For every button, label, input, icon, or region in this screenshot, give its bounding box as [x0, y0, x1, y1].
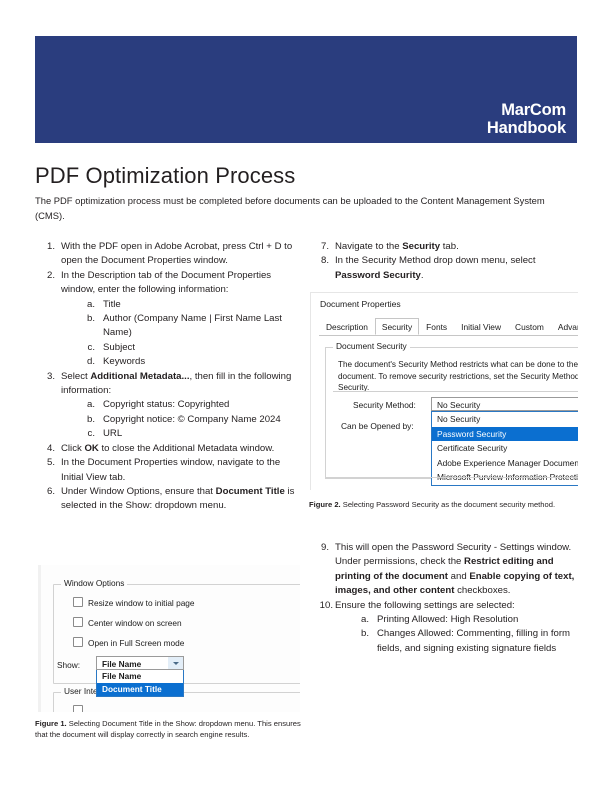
list-item: b.Author (Company Name | First Name Last…	[77, 312, 303, 341]
dropdown-option-certificate-security[interactable]: Certificate Security	[432, 441, 578, 456]
substep-text: Changes Allowed: Commenting, filling in …	[377, 628, 570, 653]
window-options-group-label: Window Options	[61, 578, 127, 588]
substep-text: URL	[103, 428, 122, 439]
tab-fonts[interactable]: Fonts	[419, 318, 454, 335]
dropdown-option-no-security[interactable]: No Security	[432, 412, 578, 427]
security-method-dropdown-list[interactable]: No Security Password Security Certificat…	[431, 411, 578, 486]
dialog-title: Document Properties	[320, 299, 401, 309]
step-body: Navigate to the Security tab.	[335, 241, 459, 252]
substep-text: Title	[103, 299, 121, 310]
list-item: d.Keywords	[77, 355, 303, 369]
step-text-post: to close the Additional Metadata window.	[99, 443, 274, 454]
substep-number: a.	[77, 298, 95, 312]
list-item: 1. With the PDF open in Adobe Acrobat, p…	[35, 240, 303, 269]
checkbox-row-hide-menu-bar[interactable]	[73, 705, 88, 712]
substep-text: Copyright status: Copyrighted	[103, 399, 229, 410]
list-item: 4. Click OK to close the Additional Meta…	[35, 442, 303, 456]
list-item: 8. In the Security Method drop down menu…	[309, 254, 577, 283]
list-item: 3. Select Additional Metadata..., then f…	[35, 370, 303, 442]
step-text-emphasis: OK	[84, 443, 98, 454]
can-be-opened-by-label: Can be Opened by:	[341, 421, 414, 431]
page-intro: The PDF optimization process must be com…	[35, 194, 560, 223]
checkbox-row-center-window[interactable]: Center window on screen	[73, 617, 182, 628]
list-item: c.URL	[77, 427, 303, 441]
checkbox-icon[interactable]	[73, 637, 83, 647]
brand-title: MarComHandbook	[487, 102, 566, 137]
divider	[325, 477, 578, 478]
checkbox-icon[interactable]	[73, 617, 83, 627]
checkbox-row-resize-window[interactable]: Resize window to initial page	[73, 597, 195, 608]
figure-2-caption-text: Selecting Password Security as the docum…	[341, 500, 555, 509]
substeps-list: a.Printing Allowed: High Resolution b.Ch…	[351, 613, 577, 656]
step-text-pre: Under Window Options, ensure that	[61, 486, 216, 497]
step-number: 3.	[35, 370, 55, 384]
step-body: In the Description tab of the Document P…	[61, 270, 303, 370]
substep-text: Printing Allowed: High Resolution	[377, 614, 518, 625]
step-body: Select Additional Metadata..., then fill…	[61, 371, 303, 442]
checkbox-label: Center window on screen	[88, 618, 182, 628]
list-item: 10. Ensure the following settings are se…	[309, 599, 577, 657]
dropdown-option-password-security[interactable]: Password Security	[432, 427, 578, 442]
step-text-emphasis: Password Security	[335, 270, 421, 281]
step-number: 10.	[309, 599, 333, 613]
step-text-post: .	[421, 270, 424, 281]
step-body: This will open the Password Security - S…	[335, 542, 574, 596]
step-text-pre: In the Security Method drop down menu, s…	[335, 255, 536, 266]
step-text-pre: Click	[61, 443, 84, 454]
brand-line-1: MarCom	[501, 101, 566, 119]
step-text-post: checkboxes.	[454, 585, 510, 596]
checkbox-label: Resize window to initial page	[88, 598, 195, 608]
steps-list-right-top: 7. Navigate to the Security tab. 8. In t…	[309, 240, 577, 283]
document-security-group-label: Document Security	[333, 341, 410, 351]
substep-number: a.	[351, 613, 369, 627]
substep-number: b.	[77, 312, 95, 326]
tab-initial-view[interactable]: Initial View	[454, 318, 508, 335]
left-column: 1. With the PDF open in Adobe Acrobat, p…	[35, 240, 303, 514]
substeps-list: a.Copyright status: Copyrighted b.Copyri…	[77, 398, 303, 441]
substep-number: a.	[77, 398, 95, 412]
list-item: b.Changes Allowed: Commenting, filling i…	[351, 627, 577, 656]
dropdown-option-file-name[interactable]: File Name	[97, 670, 183, 683]
figure-2-document-properties-security[interactable]: Document Properties DescriptionSecurityF…	[310, 292, 578, 490]
list-item: c.Subject	[77, 341, 303, 355]
figure-1-dialog-surface: Window Options Resize window to initial …	[38, 565, 300, 712]
header-banner: MarComHandbook	[35, 36, 577, 143]
step-text: With the PDF open in Adobe Acrobat, pres…	[61, 241, 292, 266]
security-method-label: Security Method:	[353, 400, 416, 410]
list-item: a.Title	[77, 298, 303, 312]
steps-list-left: 1. With the PDF open in Adobe Acrobat, p…	[35, 240, 303, 514]
security-method-combobox[interactable]: No Security	[431, 397, 578, 411]
step-number: 2.	[35, 269, 55, 283]
step-number: 6.	[35, 485, 55, 499]
step-number: 1.	[35, 240, 55, 254]
show-combobox[interactable]: File Name	[96, 656, 184, 670]
substep-number: c.	[77, 427, 95, 441]
show-label: Show:	[57, 660, 80, 670]
checkbox-icon[interactable]	[73, 705, 83, 712]
tabstrip: DescriptionSecurityFontsInitial ViewCust…	[319, 318, 578, 336]
step-text: In the Document Properties window, navig…	[61, 457, 280, 482]
substep-text: Author (Company Name | First Name Last N…	[103, 313, 282, 338]
step-number: 7.	[309, 240, 329, 254]
step-text-emphasis: Additional Metadata...	[90, 371, 189, 382]
page-title: PDF Optimization Process	[35, 163, 295, 189]
list-item: 5. In the Document Properties window, na…	[35, 456, 303, 485]
substeps-list: a.Title b.Author (Company Name | First N…	[77, 298, 303, 370]
right-column-continued: 9. This will open the Password Security …	[309, 541, 577, 656]
chevron-down-icon[interactable]	[168, 657, 183, 669]
divider	[333, 391, 578, 392]
right-column: 7. Navigate to the Security tab. 8. In t…	[309, 240, 577, 283]
figure-1-caption: Figure 1. Selecting Document Title in th…	[35, 718, 307, 740]
step-text-emphasis: Security	[402, 241, 440, 252]
tab-custom[interactable]: Custom	[508, 318, 551, 335]
security-description: The document's Security Method restricts…	[338, 359, 578, 394]
step-text-post: tab.	[440, 241, 459, 252]
show-combobox-value: File Name	[102, 659, 141, 669]
step-body: Under Window Options, ensure that Docume…	[61, 486, 294, 511]
brand-line-2: Handbook	[487, 119, 566, 137]
show-dropdown-list[interactable]: File Name Document Title	[96, 670, 184, 697]
checkbox-icon[interactable]	[73, 597, 83, 607]
substep-number: b.	[77, 413, 95, 427]
tab-security[interactable]: Security	[375, 318, 419, 335]
substep-text: Copyright notice: © Company Name 2024	[103, 414, 281, 425]
list-item: 9. This will open the Password Security …	[309, 541, 577, 599]
figure-1-window-options[interactable]: Window Options Resize window to initial …	[38, 565, 300, 712]
figure-1-caption-lead: Figure 1.	[35, 719, 67, 728]
step-number: 9.	[309, 541, 329, 555]
step-text: Ensure the following settings are select…	[335, 600, 515, 611]
step-body: Click OK to close the Additional Metadat…	[61, 443, 274, 454]
step-body: Ensure the following settings are select…	[335, 600, 577, 657]
step-text-emphasis: Document Title	[216, 486, 285, 497]
list-item: 6. Under Window Options, ensure that Doc…	[35, 485, 303, 514]
step-text-pre: Navigate to the	[335, 241, 402, 252]
dropdown-option-document-title[interactable]: Document Title	[97, 683, 183, 696]
step-text-mid: and	[448, 571, 469, 582]
steps-list-right-bottom: 9. This will open the Password Security …	[309, 541, 577, 656]
checkbox-label: Open in Full Screen mode	[88, 638, 184, 648]
substep-number: b.	[351, 627, 369, 641]
step-number: 4.	[35, 442, 55, 456]
substep-text: Keywords	[103, 356, 145, 367]
substep-number: c.	[77, 341, 95, 355]
list-item: b.Copyright notice: © Company Name 2024	[77, 413, 303, 427]
security-method-value: No Security	[437, 400, 480, 410]
document-page: MarComHandbook PDF Optimization Process …	[0, 0, 612, 792]
list-item: 7. Navigate to the Security tab.	[309, 240, 577, 254]
step-text-pre: Select	[61, 371, 90, 382]
figure-1-caption-text: Selecting Document Title in the Show: dr…	[35, 719, 301, 739]
list-item: a.Copyright status: Copyrighted	[77, 398, 303, 412]
figure-2-caption-lead: Figure 2.	[309, 500, 341, 509]
step-text: In the Description tab of the Document P…	[61, 270, 271, 295]
tab-advanced[interactable]: Advanced	[551, 318, 578, 335]
tab-description[interactable]: Description	[319, 318, 375, 335]
substep-text: Subject	[103, 342, 135, 353]
substep-number: d.	[77, 355, 95, 369]
checkbox-row-full-screen[interactable]: Open in Full Screen mode	[73, 637, 184, 648]
list-item: a.Printing Allowed: High Resolution	[351, 613, 577, 627]
step-body: In the Security Method drop down menu, s…	[335, 255, 536, 280]
list-item: 2. In the Description tab of the Documen…	[35, 269, 303, 370]
step-number: 5.	[35, 456, 55, 470]
figure-2-caption: Figure 2. Selecting Password Security as…	[309, 499, 571, 510]
step-number: 8.	[309, 254, 329, 268]
dropdown-option-adobe-experience-manager[interactable]: Adobe Experience Manager Document Securi…	[432, 456, 578, 471]
